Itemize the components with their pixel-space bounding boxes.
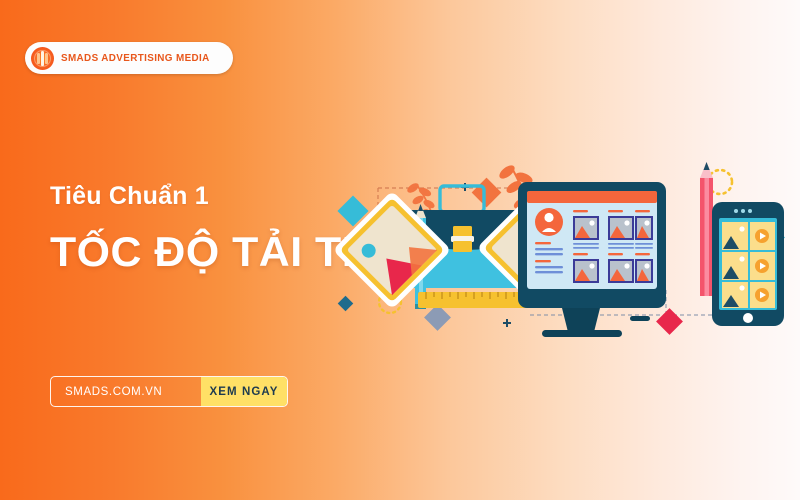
diamond-crimson — [656, 308, 683, 335]
phone-tile — [722, 252, 748, 280]
mobile-phone — [712, 202, 784, 326]
brand-logo[interactable]: SMADS ADVERTISING MEDIA — [25, 42, 233, 74]
phone-tile — [750, 222, 775, 250]
phone-tile — [750, 282, 775, 308]
phone-tile — [750, 252, 775, 280]
eyebrow-text: Tiêu Chuẩn 1 — [50, 182, 209, 211]
dash-teal — [630, 316, 650, 321]
promo-banner: SMADS ADVERTISING MEDIA Tiêu Chuẩn 1 TỐC… — [0, 0, 800, 500]
diamond-orange — [472, 178, 502, 208]
web-design-workspace-illustration — [330, 140, 800, 370]
smads-circle-logo-icon — [31, 47, 54, 70]
diamond-cyan-small — [338, 296, 354, 312]
phone-tile — [722, 222, 748, 250]
desktop-monitor — [518, 182, 666, 337]
pencil-pink — [700, 162, 713, 296]
xem-ngay-button[interactable]: XEM NGAY — [201, 377, 287, 406]
brand-logo-text: SMADS ADVERTISING MEDIA — [61, 52, 210, 64]
website-url-label: SMADS.COM.VN — [51, 377, 201, 406]
diamond-grey — [424, 304, 451, 331]
cta-bar[interactable]: SMADS.COM.VN XEM NGAY — [50, 376, 288, 407]
phone-tile — [722, 282, 748, 308]
